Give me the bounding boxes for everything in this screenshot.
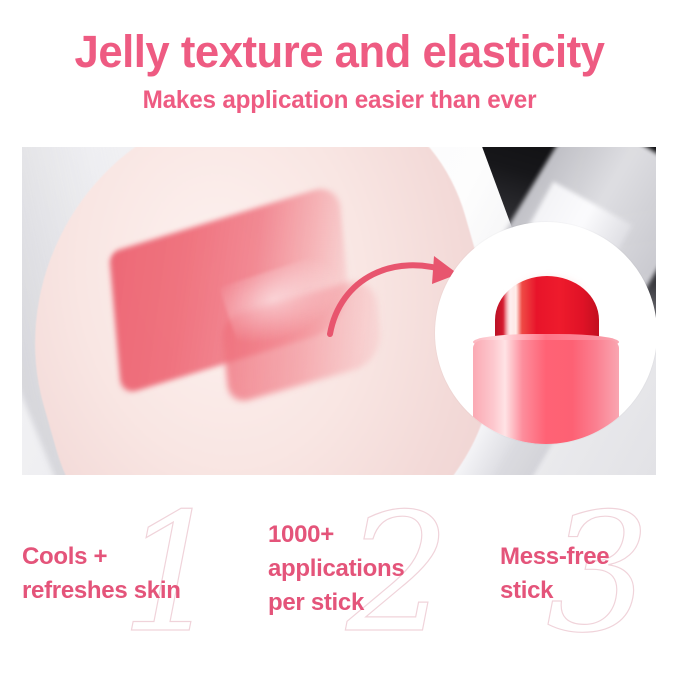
- feature-item-2: 2 1000+ applications per stick: [268, 496, 468, 679]
- feature-2-line-2: applications: [268, 552, 404, 586]
- product-marketing-image: Jelly texture and elasticity Makes appli…: [0, 0, 679, 679]
- feature-1-line-1: Cools +: [22, 540, 181, 574]
- page-subheadline: Makes application easier than ever: [10, 85, 669, 115]
- product-inset-circle: [435, 222, 656, 444]
- feature-3-line-2: stick: [500, 574, 609, 608]
- feature-text-3: Mess-free stick: [500, 540, 609, 608]
- feature-1-line-2: refreshes skin: [22, 574, 181, 608]
- page-headline: Jelly texture and elasticity: [10, 26, 669, 78]
- product-photo: [22, 147, 656, 475]
- feature-text-1: Cools + refreshes skin: [22, 540, 181, 608]
- feature-2-line-1: 1000+: [268, 518, 404, 552]
- feature-2-line-3: per stick: [268, 586, 404, 620]
- feature-3-line-1: Mess-free: [500, 540, 609, 574]
- feature-text-2: 1000+ applications per stick: [268, 518, 404, 620]
- feature-item-3: 3 Mess-free stick: [500, 496, 675, 679]
- product-pink-base: [473, 340, 619, 444]
- feature-row: 1 Cools + refreshes skin 2 1000+ applica…: [0, 496, 679, 679]
- feature-item-1: 1 Cools + refreshes skin: [22, 496, 237, 679]
